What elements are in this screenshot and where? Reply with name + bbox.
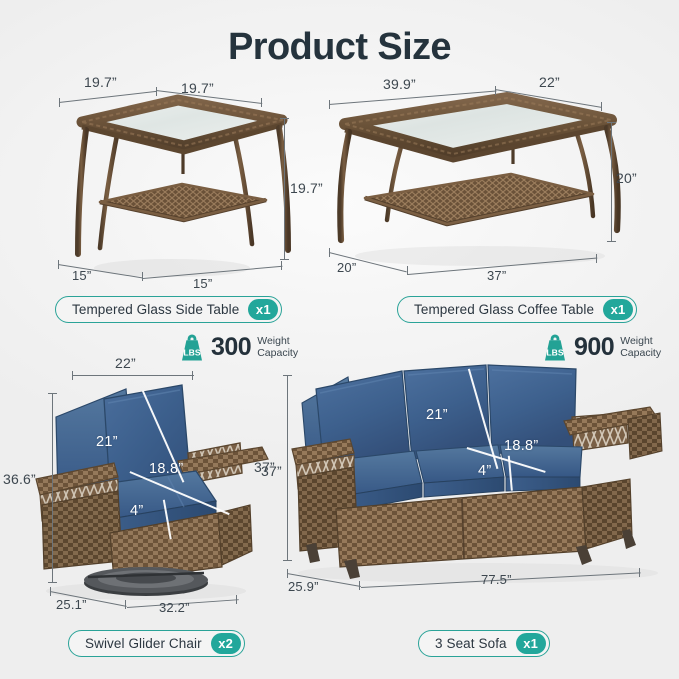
dim-side-table-top-width-left: 19.7” <box>84 74 117 90</box>
dim-side-table-base-width: 15” <box>193 276 212 291</box>
dim-tick <box>48 393 57 394</box>
weight-caption-line1: Weight <box>620 335 653 347</box>
pill-label-chair: Swivel Glider Chair <box>85 636 211 651</box>
dim-line-top-width <box>72 375 194 376</box>
pill-chair[interactable]: Swivel Glider Chair x2 <box>68 630 245 657</box>
dim-chair-top-width: 22” <box>115 355 136 371</box>
pill-qty-sofa: x1 <box>516 633 546 654</box>
dim-tick <box>156 87 157 96</box>
dim-tick <box>72 371 73 380</box>
pill-sofa[interactable]: 3 Seat Sofa x1 <box>418 630 550 657</box>
dim-line-overall-height <box>52 393 53 583</box>
side-table-illustration <box>60 78 310 293</box>
pill-qty-coffee-table: x1 <box>603 299 633 320</box>
dim-tick <box>601 102 602 111</box>
dim-side-table-height: 19.7” <box>290 180 323 196</box>
dim-tick <box>639 568 640 577</box>
pill-label-sofa: 3 Seat Sofa <box>435 636 516 651</box>
dim-tick <box>48 582 57 583</box>
dim-chair-base-width: 32.2” <box>159 600 190 615</box>
sofa-panel: 37” 21” 18.8” 4” 25.9” 77.5” <box>282 355 674 613</box>
dim-side-table-top-width-right: 19.7” <box>181 80 214 96</box>
dim-tick <box>192 371 193 380</box>
dim-sofa-base-width: 77.5” <box>481 572 512 587</box>
pill-label-side-table: Tempered Glass Side Table <box>72 302 248 317</box>
dim-tick <box>50 587 51 596</box>
dim-tick <box>281 261 282 270</box>
dim-sofa-overall-height: 37” <box>254 459 275 475</box>
dim-tick <box>59 98 60 107</box>
swivel-glider-chair-illustration <box>18 355 278 613</box>
dim-tick <box>58 260 59 269</box>
product-size-infographic: Product Size <box>0 0 679 679</box>
dim-line-overall-height <box>287 375 288 561</box>
pill-side-table[interactable]: Tempered Glass Side Table x1 <box>55 296 282 323</box>
dim-chair-seat-thickness: 4” <box>130 503 144 519</box>
pill-coffee-table[interactable]: Tempered Glass Coffee Table x1 <box>397 296 637 323</box>
swivel-glider-chair-panel: 22” 36.6” 21” 18.8” 4” 25.1” 32.2” 37” <box>18 355 278 613</box>
dim-tick <box>280 118 289 119</box>
dim-tick <box>607 241 616 242</box>
page-title: Product Size <box>228 26 451 69</box>
dim-tick <box>596 254 597 263</box>
dim-tick <box>329 100 330 109</box>
dim-tick <box>125 600 126 609</box>
dim-tick <box>142 272 143 281</box>
dim-tick <box>283 560 292 561</box>
coffee-table-illustration <box>335 78 625 293</box>
dim-coffee-table-base-width: 37” <box>487 268 506 283</box>
pill-label-coffee-table: Tempered Glass Coffee Table <box>414 302 603 317</box>
dim-sofa-back-cushion-height: 21” <box>426 407 448 423</box>
page-title-text: Product Size <box>228 26 451 68</box>
dim-coffee-table-base-depth: 20” <box>337 260 356 275</box>
dim-tick <box>236 595 237 604</box>
dim-tick <box>280 259 289 260</box>
coffee-table-panel: 39.9” 22” 20” 20” 37” <box>335 78 625 293</box>
dim-coffee-table-top-width: 39.9” <box>383 76 416 92</box>
dim-sofa-base-depth: 25.9” <box>288 579 319 594</box>
dim-sofa-seat-depth: 18.8” <box>504 438 539 454</box>
dim-side-table-base-depth: 15” <box>72 268 91 283</box>
dim-coffee-table-height: 20” <box>616 170 637 186</box>
dim-chair-base-depth: 25.1” <box>56 597 87 612</box>
dim-tick <box>287 569 288 578</box>
dim-tick <box>283 375 292 376</box>
dim-coffee-table-top-depth: 22” <box>539 74 560 90</box>
weight-caption-line1: Weight <box>257 335 290 347</box>
dim-line-height <box>611 122 612 242</box>
page-title-wrap: Product Size <box>0 26 679 69</box>
dim-line-height <box>284 118 285 260</box>
side-table-panel: 19.7” 19.7” 19.7” 15” 15” <box>60 78 310 293</box>
pill-qty-side-table: x1 <box>248 299 278 320</box>
dim-tick <box>495 86 496 95</box>
dim-tick <box>329 248 330 257</box>
dim-sofa-seat-thickness: 4” <box>478 463 492 479</box>
dim-chair-overall-height: 36.6” <box>3 471 36 487</box>
pill-qty-chair: x2 <box>211 633 241 654</box>
dim-tick <box>607 122 616 123</box>
dim-chair-seat-depth: 18.8” <box>149 461 184 477</box>
dim-chair-back-cushion-height: 21” <box>96 434 118 450</box>
dim-tick <box>359 581 360 590</box>
dim-tick <box>261 98 262 107</box>
